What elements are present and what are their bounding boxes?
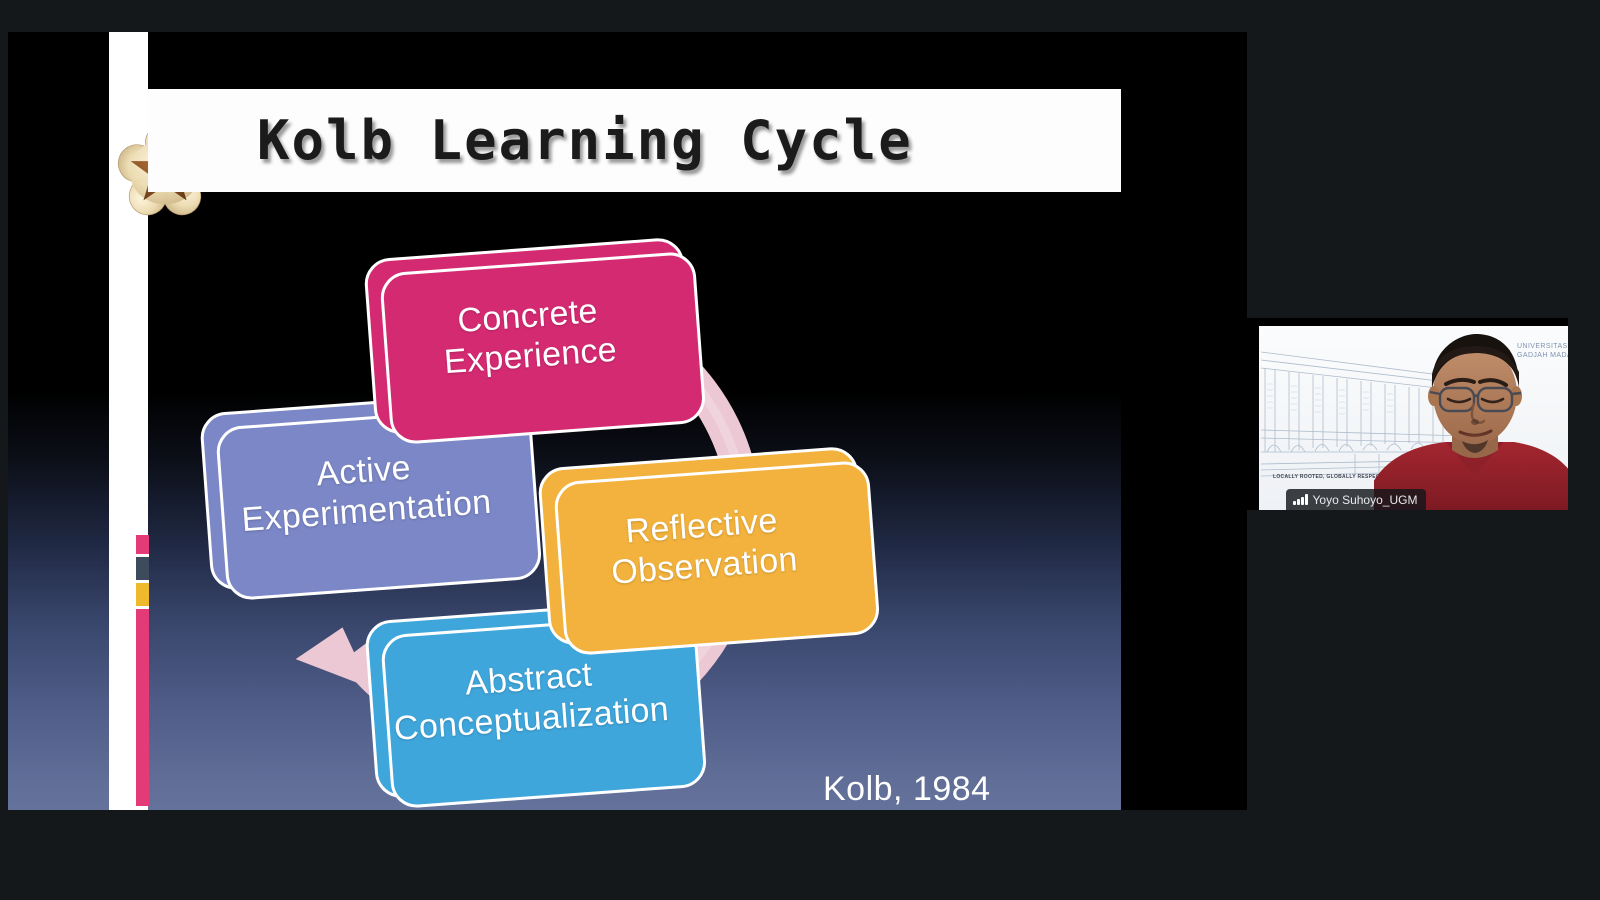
participant-name-plate: Yoyo Suhoyo_UGM [1286, 489, 1426, 510]
video-frame: LOCALLY ROOTED, GLOBALLY RESPECTED [1259, 326, 1568, 510]
shared-screen-stage[interactable]: Kolb Learning Cycle Concrete [8, 32, 1247, 810]
slide-citation: Kolb, 1984 [823, 770, 991, 809]
node-active-label: Active Experimentation [237, 442, 492, 540]
participant-name: Yoyo Suhoyo_UGM [1313, 493, 1418, 507]
kolb-cycle-diagram: Concrete Experience Active Experimentati… [8, 192, 1121, 810]
presentation-slide: Kolb Learning Cycle Concrete [8, 32, 1121, 810]
screen-share-view: Kolb Learning Cycle Concrete [0, 0, 1600, 900]
signal-strength-icon [1293, 494, 1308, 505]
participant-webcam-image [1374, 326, 1568, 510]
node-abstract-label: Abstract Conceptualization [390, 649, 671, 749]
node-concrete-label: Concrete Experience [440, 290, 619, 383]
node-concrete-experience[interactable]: Concrete Experience [363, 237, 695, 436]
node-reflective-observation[interactable]: Reflective Observation [537, 446, 869, 647]
page-title: Kolb Learning Cycle [257, 109, 913, 172]
node-reflective-label: Reflective Observation [607, 499, 799, 593]
slide-title-bar: Kolb Learning Cycle [148, 89, 1121, 192]
participant-video-tile[interactable]: LOCALLY ROOTED, GLOBALLY RESPECTED [1232, 318, 1568, 510]
